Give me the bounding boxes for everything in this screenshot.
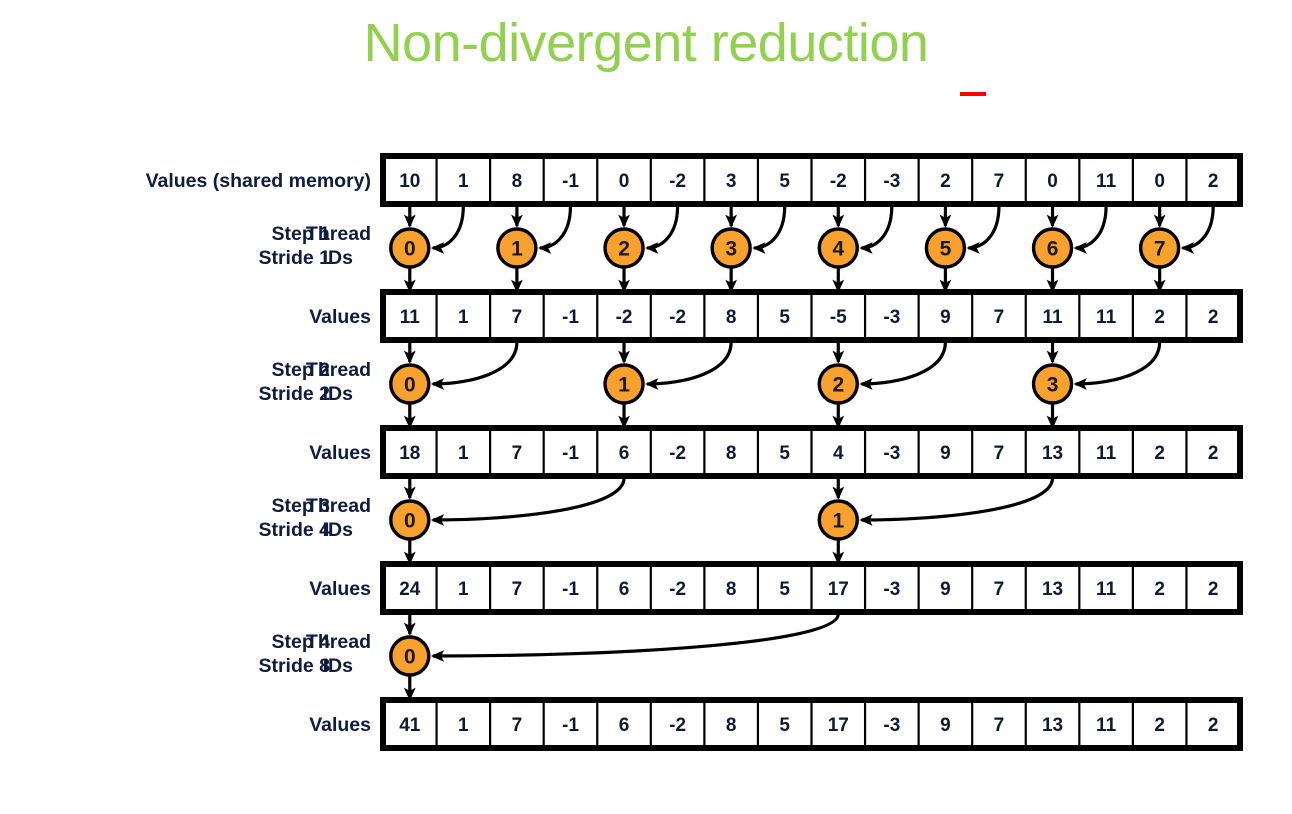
thread-step-row: 01234567 — [391, 206, 1213, 291]
thread-id-label: 0 — [404, 510, 416, 533]
thread-id-label: 0 — [404, 238, 416, 261]
value-cell: 7 — [994, 171, 1005, 192]
value-cell: -1 — [562, 171, 579, 192]
value-cell: 9 — [940, 715, 951, 736]
thread-id-label: 2 — [832, 374, 844, 397]
value-cell: 7 — [994, 307, 1005, 328]
value-cell: 24 — [399, 579, 421, 600]
value-cell: 7 — [512, 307, 523, 328]
value-cell: 1 — [458, 715, 469, 736]
value-cell: 11 — [1096, 579, 1117, 600]
value-cell: 2 — [1208, 307, 1219, 328]
partner-value-arrow — [1183, 206, 1214, 248]
value-cell: 13 — [1042, 579, 1063, 600]
value-cell: 0 — [1154, 171, 1165, 192]
partner-value-arrow — [861, 206, 892, 248]
value-cell: -2 — [669, 443, 686, 464]
value-cell: 9 — [940, 443, 951, 464]
value-cell: 11 — [1042, 307, 1063, 328]
value-cell: 8 — [726, 579, 737, 600]
value-cell: 9 — [940, 579, 951, 600]
thread-ids-label-line1: Thread — [306, 359, 371, 381]
value-cell: -1 — [562, 579, 579, 600]
value-cell: 6 — [619, 443, 630, 464]
partner-value-arrow — [1076, 206, 1107, 248]
thread-step-row: 0 — [391, 614, 839, 699]
value-cell: 17 — [828, 579, 849, 600]
partner-value-arrow — [647, 342, 731, 384]
value-cell: 6 — [619, 715, 630, 736]
stride-label: Stride 4 — [258, 519, 330, 541]
value-cell: 0 — [619, 171, 630, 192]
slide-canvas: Non-divergent reduction 1018-10-235-2-32… — [0, 0, 1292, 814]
row-label-values: Values — [309, 578, 371, 600]
thread-id-label: 1 — [832, 510, 844, 533]
value-cell: 2 — [1154, 307, 1165, 328]
thread-id-label: 0 — [404, 374, 416, 397]
thread-id-label: 0 — [404, 646, 416, 669]
value-cell: 10 — [399, 171, 420, 192]
value-cell: 11 — [1096, 307, 1117, 328]
partner-value-arrow — [433, 614, 839, 656]
stride-label: Stride 1 — [258, 247, 330, 269]
value-cell: -2 — [669, 171, 686, 192]
value-cell: -1 — [562, 443, 579, 464]
partner-value-arrow — [861, 342, 945, 384]
partner-value-arrow — [540, 206, 571, 248]
thread-ids-label-line2: IDs — [323, 247, 354, 269]
value-cell: 7 — [512, 443, 523, 464]
partner-value-arrow — [861, 478, 1052, 520]
value-cell: 11 — [1096, 443, 1117, 464]
value-cell: 0 — [1047, 171, 1058, 192]
value-cell: 1 — [458, 579, 469, 600]
value-cell: 13 — [1042, 715, 1063, 736]
value-cell: 2 — [1154, 715, 1165, 736]
value-cell: -3 — [883, 307, 900, 328]
value-cell: 2 — [1208, 171, 1219, 192]
value-cell: 8 — [726, 443, 737, 464]
thread-step-row: 01 — [391, 478, 1053, 563]
value-cell: 18 — [399, 443, 420, 464]
value-cell: 8 — [726, 307, 737, 328]
partner-value-arrow — [433, 478, 624, 520]
value-cell: 5 — [779, 171, 790, 192]
value-cell: 8 — [512, 171, 523, 192]
row-label-values: Values — [309, 306, 371, 328]
value-cell: 1 — [458, 443, 469, 464]
value-row: 1817-16-2854-397131122 — [383, 428, 1240, 476]
row-label-values: Values — [309, 442, 371, 464]
thread-step-row: 0123 — [391, 342, 1160, 427]
value-cell: -2 — [669, 715, 686, 736]
page-title: Non-divergent reduction — [0, 12, 1292, 74]
value-cell: 1 — [458, 171, 469, 192]
value-cell: 6 — [619, 579, 630, 600]
value-row: 1018-10-235-2-32701102 — [383, 156, 1240, 204]
partner-value-arrow — [754, 206, 785, 248]
value-cell: 5 — [779, 579, 790, 600]
value-cell: 7 — [512, 579, 523, 600]
value-cell: 2 — [1208, 443, 1219, 464]
value-cell: -5 — [830, 307, 847, 328]
stride-label: Stride 2 — [258, 383, 330, 405]
title-red-underline-mark — [960, 92, 986, 96]
value-cell: -2 — [616, 307, 633, 328]
thread-ids-label-line2: IDs — [323, 519, 354, 541]
value-cell: 17 — [828, 715, 849, 736]
value-cell: 5 — [779, 715, 790, 736]
reduction-diagram: 1018-10-235-2-32701102Values (shared mem… — [0, 120, 1292, 780]
value-cell: 7 — [512, 715, 523, 736]
value-cell: 2 — [1208, 715, 1219, 736]
value-cell: 8 — [726, 715, 737, 736]
value-cell: 41 — [399, 715, 421, 736]
thread-id-label: 4 — [832, 238, 844, 261]
value-cell: 7 — [994, 579, 1005, 600]
thread-id-label: 7 — [1154, 238, 1166, 261]
value-cell: 2 — [1154, 443, 1165, 464]
value-cell: -3 — [883, 443, 900, 464]
value-cell: -2 — [830, 171, 847, 192]
thread-id-label: 1 — [618, 374, 630, 397]
partner-value-arrow — [1076, 342, 1160, 384]
value-cell: -2 — [669, 579, 686, 600]
value-cell: 9 — [940, 307, 951, 328]
value-row: 4117-16-28517-397131122 — [383, 700, 1240, 748]
stride-label: Stride 8 — [258, 655, 330, 677]
value-cell: 11 — [400, 307, 421, 328]
thread-id-label: 3 — [1047, 374, 1059, 397]
value-cell: 1 — [458, 307, 469, 328]
value-cell: 7 — [994, 715, 1005, 736]
thread-id-label: 6 — [1047, 238, 1059, 261]
thread-ids-label-line1: Thread — [306, 631, 371, 653]
value-cell: -2 — [669, 307, 686, 328]
value-cell: 7 — [994, 443, 1005, 464]
value-cell: 11 — [1096, 171, 1117, 192]
value-cell: 4 — [833, 443, 844, 464]
thread-ids-label-line1: Thread — [306, 223, 371, 245]
thread-ids-label-line1: Thread — [306, 495, 371, 517]
value-row: 1117-1-2-285-5-397111122 — [383, 292, 1240, 340]
thread-id-label: 5 — [940, 238, 952, 261]
thread-id-label: 3 — [725, 238, 737, 261]
value-cell: 13 — [1042, 443, 1063, 464]
row-label-initial: Values (shared memory) — [146, 170, 371, 192]
row-label-values: Values — [309, 714, 371, 736]
partner-value-arrow — [647, 206, 678, 248]
value-cell: 5 — [779, 307, 790, 328]
value-cell: -3 — [883, 579, 900, 600]
value-row: 2417-16-28517-397131122 — [383, 564, 1240, 612]
value-cell: 2 — [1154, 579, 1165, 600]
partner-value-arrow — [433, 206, 464, 248]
value-cell: 5 — [779, 443, 790, 464]
thread-ids-label-line2: IDs — [323, 655, 354, 677]
partner-value-arrow — [968, 206, 999, 248]
thread-ids-label-line2: IDs — [323, 383, 354, 405]
value-cell: 11 — [1096, 715, 1117, 736]
thread-id-label: 1 — [511, 238, 523, 261]
value-cell: -3 — [883, 715, 900, 736]
value-cell: 2 — [940, 171, 951, 192]
value-cell: 3 — [726, 171, 737, 192]
thread-id-label: 2 — [618, 238, 630, 261]
value-cell: -1 — [562, 307, 579, 328]
partner-value-arrow — [433, 342, 517, 384]
value-cell: -1 — [562, 715, 579, 736]
value-cell: -3 — [883, 171, 900, 192]
value-cell: 2 — [1208, 579, 1219, 600]
